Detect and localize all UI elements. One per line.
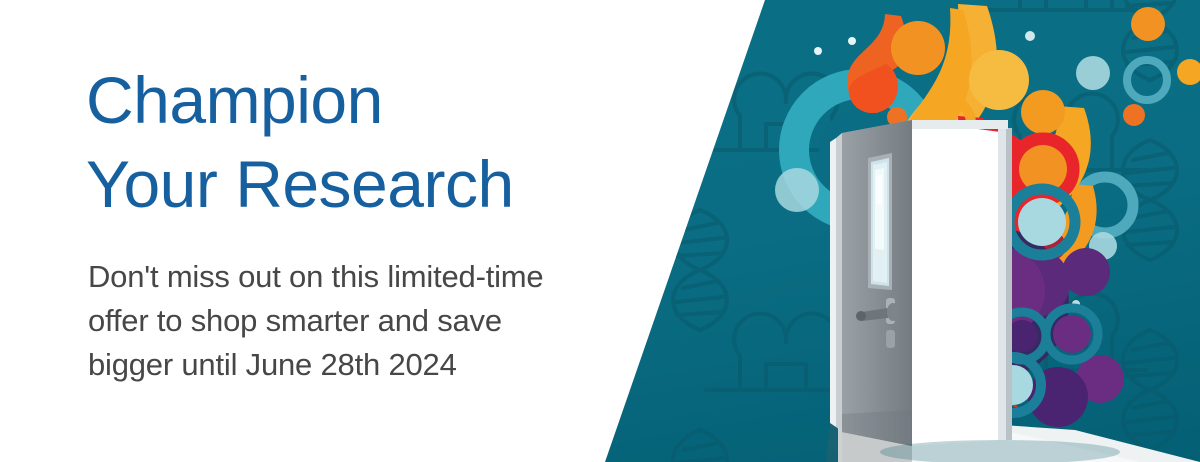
text-panel: Champion Your Research Don't miss out on… xyxy=(0,0,620,462)
door-window xyxy=(868,153,892,290)
promo-subheading: Don't miss out on this limited-time offe… xyxy=(88,255,543,387)
doorway-burst xyxy=(925,270,985,330)
lab-door xyxy=(830,120,912,446)
promo-banner: Champion Your Research Don't miss out on… xyxy=(0,0,1200,462)
page-title: Champion Your Research xyxy=(86,58,514,226)
